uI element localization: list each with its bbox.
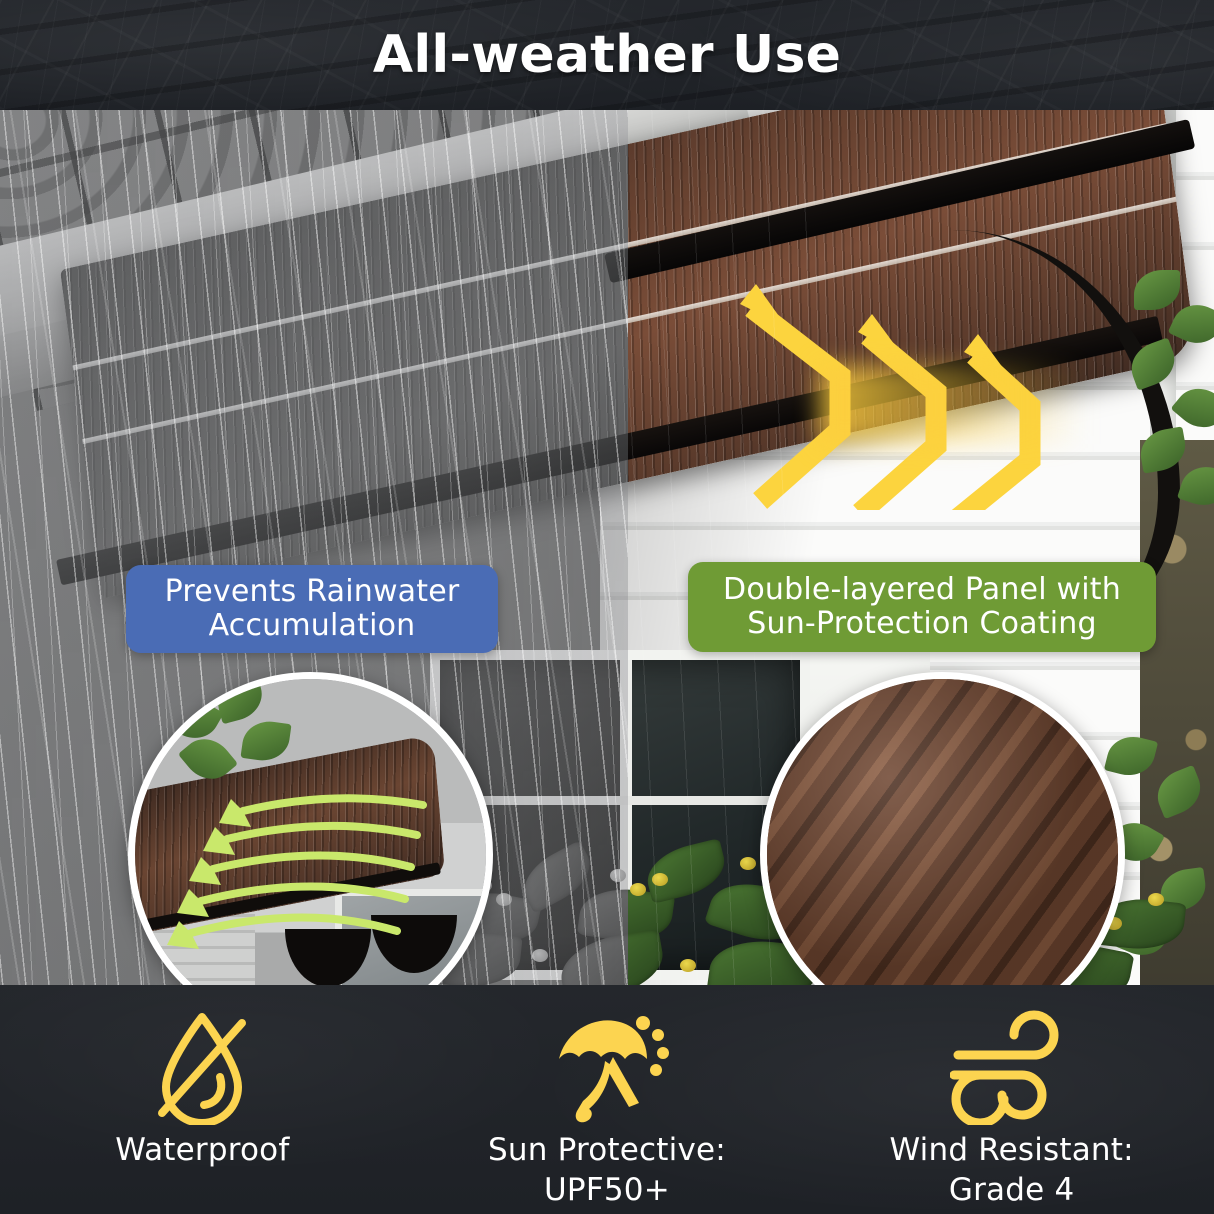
- inset-rain-runoff-closeup: [128, 672, 493, 985]
- inset-water-flow-arrows: [135, 679, 493, 985]
- waterproof-droplet-slash-icon: [146, 1007, 258, 1125]
- callout-rain-line1: Prevents Rainwater: [165, 575, 460, 609]
- header-bar: All-weather Use: [0, 0, 1214, 110]
- feature-bar: Waterproof Sun Protect: [0, 985, 1214, 1214]
- feature-waterproof: Waterproof: [22, 1007, 382, 1171]
- feature-sun-protective: Sun Protective: UPF50+: [427, 1007, 787, 1210]
- feature-waterproof-caption: Waterproof: [115, 1131, 289, 1171]
- feature-waterproof-line1: Waterproof: [115, 1131, 289, 1171]
- feature-wind-caption: Wind Resistant: Grade 4: [889, 1131, 1133, 1210]
- callout-prevents-rainwater: Prevents Rainwater Accumulation: [126, 565, 498, 653]
- callout-rain-line2: Accumulation: [209, 609, 416, 643]
- feature-sun-line1: Sun Protective:: [488, 1131, 726, 1171]
- wind-resistant-airflow-icon: [950, 1007, 1074, 1125]
- inset-panel-texture-closeup: [760, 672, 1125, 985]
- callout-sun-line2: Sun-Protection Coating: [747, 607, 1096, 641]
- feature-wind-resistant: Wind Resistant: Grade 4: [832, 1007, 1192, 1210]
- feature-wind-line2: Grade 4: [889, 1171, 1133, 1211]
- callout-sun-line1: Double-layered Panel with: [723, 573, 1121, 607]
- page-title: All-weather Use: [0, 0, 1214, 110]
- feature-wind-line1: Wind Resistant:: [889, 1131, 1133, 1171]
- feature-sun-caption: Sun Protective: UPF50+: [488, 1131, 726, 1210]
- product-feature-image: All-weather Use: [0, 0, 1214, 1214]
- main-photo: Prevents Rainwater Accumulation Double-l…: [0, 110, 1214, 985]
- climbing-vine: [1130, 260, 1214, 520]
- uv-glow: [820, 366, 1110, 444]
- sun-protective-umbrella-icon: [543, 1007, 671, 1125]
- callout-double-layered-panel: Double-layered Panel with Sun-Protection…: [688, 562, 1156, 652]
- inset-panel-sheen: [767, 679, 1118, 985]
- feature-sun-line2: UPF50+: [488, 1171, 726, 1211]
